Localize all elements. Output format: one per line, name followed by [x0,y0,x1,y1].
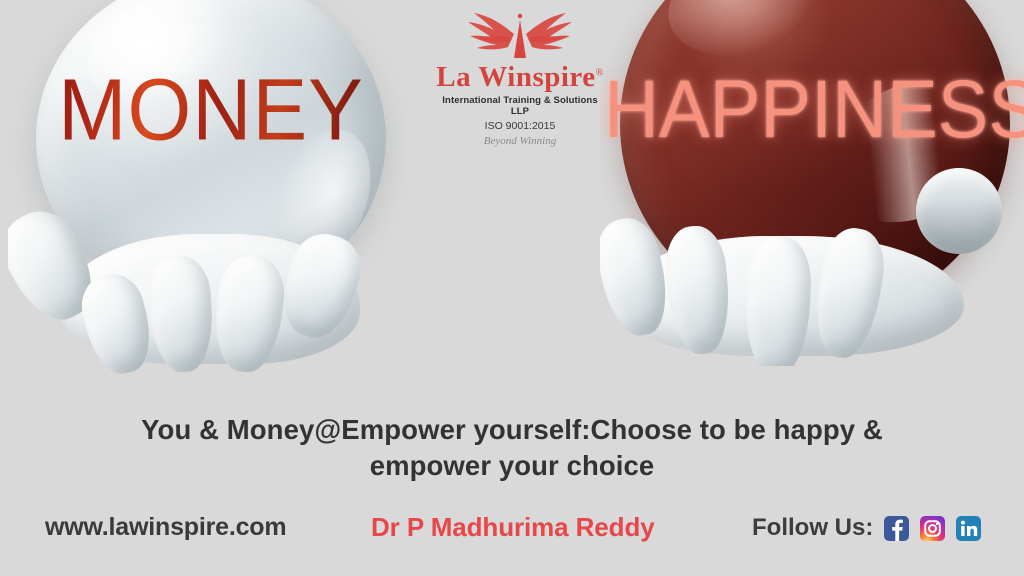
company-logo: La Winspire® International Training & So… [432,4,608,147]
money-crystal-ball-image: MONEY [8,0,418,374]
webinar-banner: MONEY HAPPINESS [0,0,1024,576]
brand-name: La Winspire® [436,62,604,92]
brand-subtitle: International Training & Solutions LLP [432,95,608,117]
registered-mark: ® [596,67,604,78]
happiness-word-label: HAPPINESS [604,69,1024,151]
instagram-icon[interactable] [920,516,945,541]
money-word-label: MONEY [26,68,396,155]
brand-tagline: Beyond Winning [432,135,608,147]
winged-spire-icon [452,4,588,60]
linkedin-icon[interactable] [956,516,981,541]
follow-us-group: Follow Us: [752,514,981,542]
happiness-crystal-ball-image: HAPPINESS [600,0,1024,366]
white-hand-holding-happiness-ball [600,178,1024,366]
page-title: You & Money@Empower yourself:Choose to b… [84,412,940,484]
website-link[interactable]: www.lawinspire.com [45,513,286,542]
headline-line-1: You & Money@Empower yourself:Choose to b… [141,414,883,445]
white-hand-holding-money-ball [8,182,418,372]
headline-line-2: empower your choice [370,450,655,481]
follow-us-label: Follow Us: [752,514,873,542]
facebook-icon[interactable] [884,516,909,541]
presenter-name: Dr P Madhurima Reddy [371,512,655,543]
iso-certification: ISO 9001:2015 [432,120,608,132]
finger-shape [744,235,813,366]
brand-name-text: La Winspire [436,61,595,93]
footer-bar: www.lawinspire.com Dr P Madhurima Reddy … [0,505,1024,565]
